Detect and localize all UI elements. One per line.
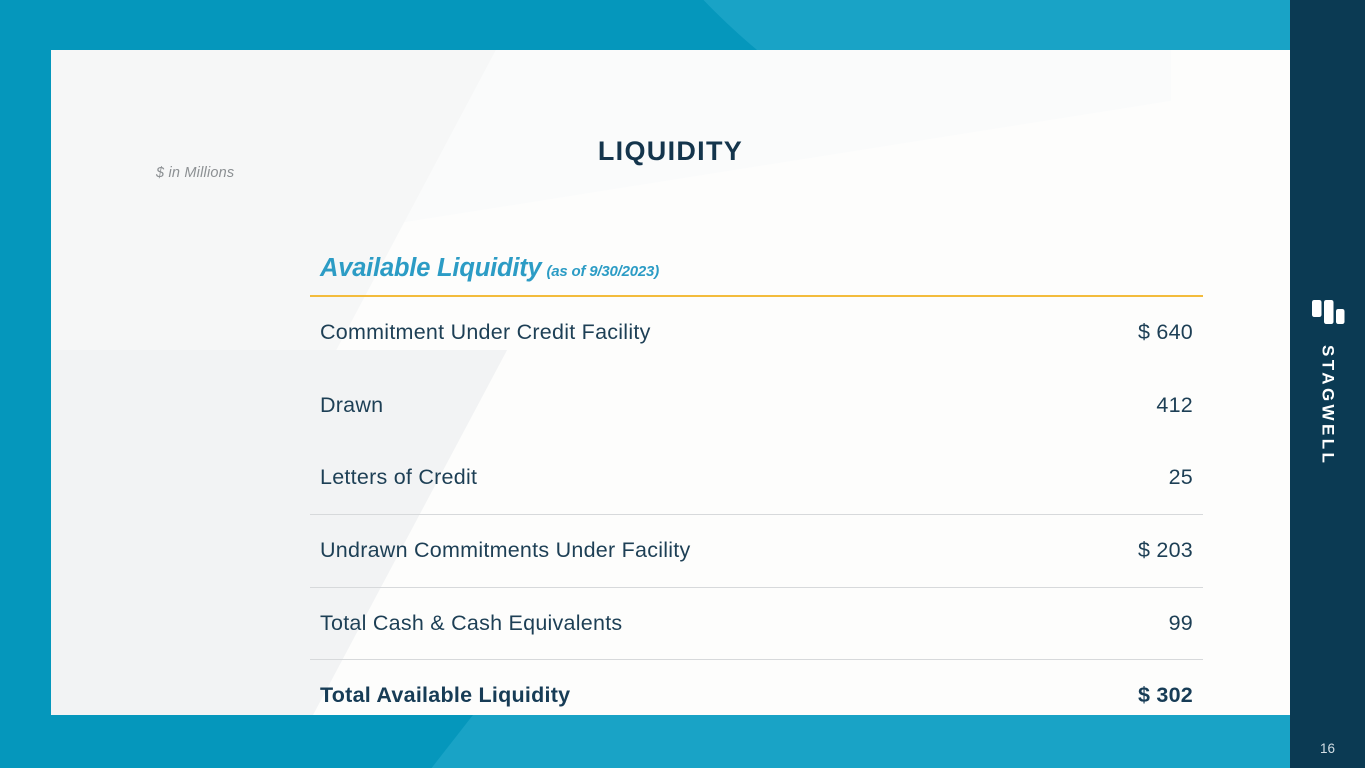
card-content: $ in Millions LIQUIDITY Available Liquid… bbox=[51, 50, 1290, 715]
table-heading-date: (as of 9/30/2023) bbox=[547, 263, 660, 280]
row-value: $ 302 bbox=[1138, 683, 1193, 708]
table-heading-label: Available Liquidity bbox=[320, 254, 542, 282]
row-label: Drawn bbox=[320, 393, 383, 418]
row-label: Undrawn Commitments Under Facility bbox=[320, 538, 691, 563]
row-value: 25 bbox=[1169, 465, 1193, 490]
row-label: Commitment Under Credit Facility bbox=[320, 320, 651, 345]
brand-wordmark: STAGWELL bbox=[1318, 345, 1338, 466]
table-row: Drawn 412 bbox=[310, 369, 1203, 442]
content-card: $ in Millions LIQUIDITY Available Liquid… bbox=[51, 50, 1290, 715]
page-number: 16 bbox=[1290, 741, 1365, 756]
slide-canvas: $ in Millions LIQUIDITY Available Liquid… bbox=[0, 0, 1365, 768]
table-row: Commitment Under Credit Facility $ 640 bbox=[310, 297, 1203, 370]
brand-lockup: STAGWELL bbox=[1290, 296, 1365, 466]
row-value: $ 640 bbox=[1138, 320, 1193, 345]
page-title: LIQUIDITY bbox=[51, 136, 1290, 167]
table-row: Letters of Credit 25 bbox=[310, 442, 1203, 515]
row-label: Total Available Liquidity bbox=[320, 683, 570, 708]
table-row: Undrawn Commitments Under Facility $ 203 bbox=[310, 514, 1203, 587]
row-label: Total Cash & Cash Equivalents bbox=[320, 611, 622, 636]
table-row-total: Total Available Liquidity $ 302 bbox=[310, 659, 1203, 715]
liquidity-table: Available Liquidity(as of 9/30/2023) Com… bbox=[310, 256, 1203, 715]
row-value: $ 203 bbox=[1138, 538, 1193, 563]
row-value: 412 bbox=[1156, 393, 1193, 418]
row-value: 99 bbox=[1169, 611, 1193, 636]
stagwell-logo-icon bbox=[1308, 296, 1348, 336]
table-row: Total Cash & Cash Equivalents 99 bbox=[310, 587, 1203, 660]
table-heading: Available Liquidity(as of 9/30/2023) bbox=[310, 256, 1203, 295]
brand-rail: STAGWELL 16 bbox=[1290, 0, 1365, 768]
units-note: $ in Millions bbox=[156, 165, 234, 181]
row-label: Letters of Credit bbox=[320, 465, 477, 490]
